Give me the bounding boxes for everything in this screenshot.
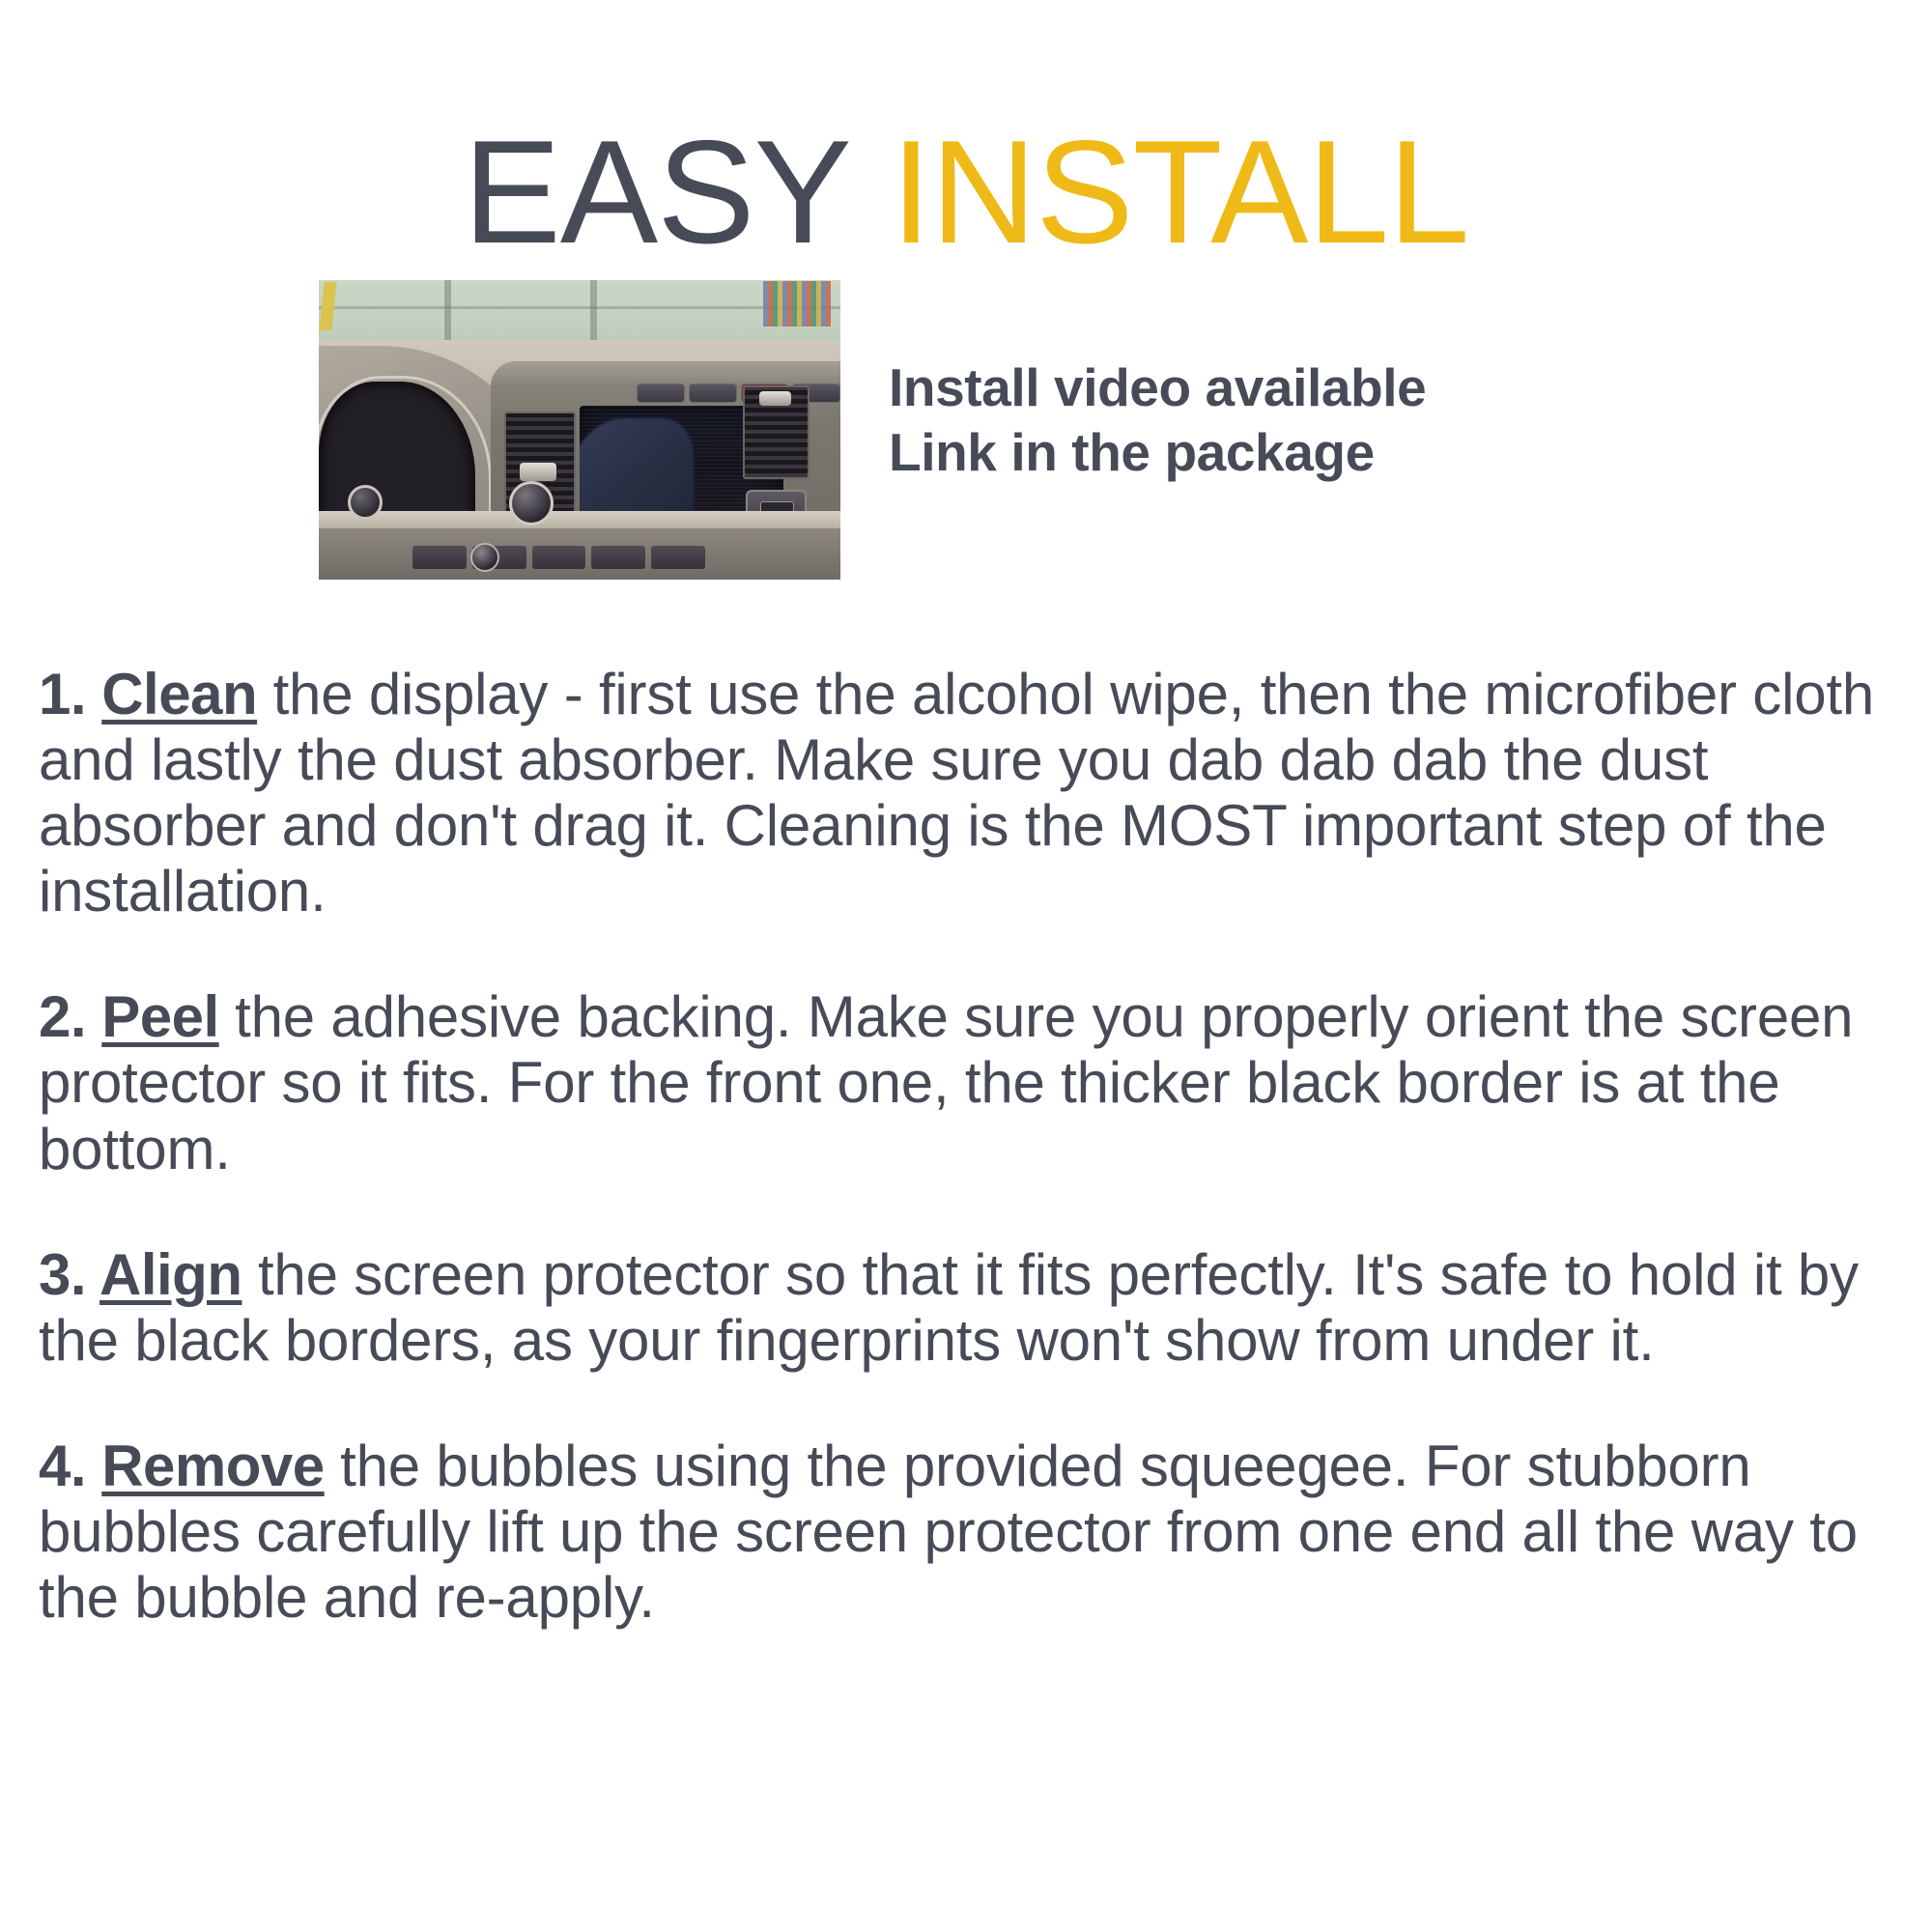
easy-install-infographic: EASY INSTALL bbox=[0, 0, 1932, 1932]
air-vent-left-knob bbox=[520, 463, 556, 481]
dashboard-photo-art bbox=[319, 280, 840, 580]
dash-button-2 bbox=[689, 384, 737, 403]
step-3-body: the screen protector so that it fits per… bbox=[39, 1242, 1859, 1373]
step-2: 2. Peel the adhesive backing. Make sure … bbox=[39, 984, 1898, 1181]
climate-control-row bbox=[412, 541, 704, 574]
step-1: 1. Clean the display - first use the alc… bbox=[39, 662, 1898, 924]
install-video-caption: Install video available Link in the pack… bbox=[889, 355, 1426, 485]
step-1-number: 1. bbox=[39, 662, 86, 726]
dash-button-1 bbox=[637, 384, 685, 403]
caption-line-1: Install video available bbox=[889, 355, 1426, 420]
step-4-keyword: Remove bbox=[101, 1434, 324, 1498]
caption-line-2: Link in the package bbox=[889, 420, 1426, 485]
step-2-lead: 2. Peel bbox=[39, 984, 219, 1049]
step-3-keyword: Align bbox=[99, 1242, 241, 1307]
climate-knob bbox=[470, 543, 499, 572]
step-4-number: 4. bbox=[39, 1434, 86, 1498]
step-1-body: the display - first use the alcohol wipe… bbox=[39, 662, 1874, 923]
climate-button-4 bbox=[591, 546, 645, 569]
step-2-keyword: Peel bbox=[101, 984, 218, 1049]
volume-knob bbox=[509, 481, 554, 526]
climate-button-5 bbox=[651, 546, 705, 569]
dashboard-button-strip bbox=[637, 384, 840, 403]
page-title: EASY INSTALL bbox=[0, 116, 1932, 270]
step-2-number: 2. bbox=[39, 984, 86, 1049]
climate-button-1 bbox=[412, 546, 467, 569]
engine-start-button bbox=[348, 485, 383, 520]
hero-section: Install video available Link in the pack… bbox=[319, 280, 1864, 589]
step-3-number: 3. bbox=[39, 1242, 86, 1307]
air-vent-right-knob bbox=[759, 391, 790, 407]
page-title-easy: EASY bbox=[463, 110, 851, 274]
step-1-keyword: Clean bbox=[101, 662, 257, 726]
instruction-steps: 1. Clean the display - first use the alc… bbox=[39, 662, 1898, 1631]
dashboard-photo-thumbnail bbox=[319, 280, 840, 580]
page-title-space bbox=[851, 110, 891, 274]
step-1-lead: 1. Clean bbox=[39, 662, 257, 726]
page-title-install: INSTALL bbox=[891, 110, 1468, 274]
climate-button-3 bbox=[532, 546, 586, 569]
step-3-lead: 3. Align bbox=[39, 1242, 241, 1307]
step-3: 3. Align the screen protector so that it… bbox=[39, 1242, 1898, 1374]
step-2-body: the adhesive backing. Make sure you prop… bbox=[39, 984, 1853, 1180]
background-objects bbox=[763, 281, 831, 327]
step-4: 4. Remove the bubbles using the provided… bbox=[39, 1434, 1898, 1631]
console-lip bbox=[319, 511, 840, 529]
step-4-lead: 4. Remove bbox=[39, 1434, 325, 1498]
